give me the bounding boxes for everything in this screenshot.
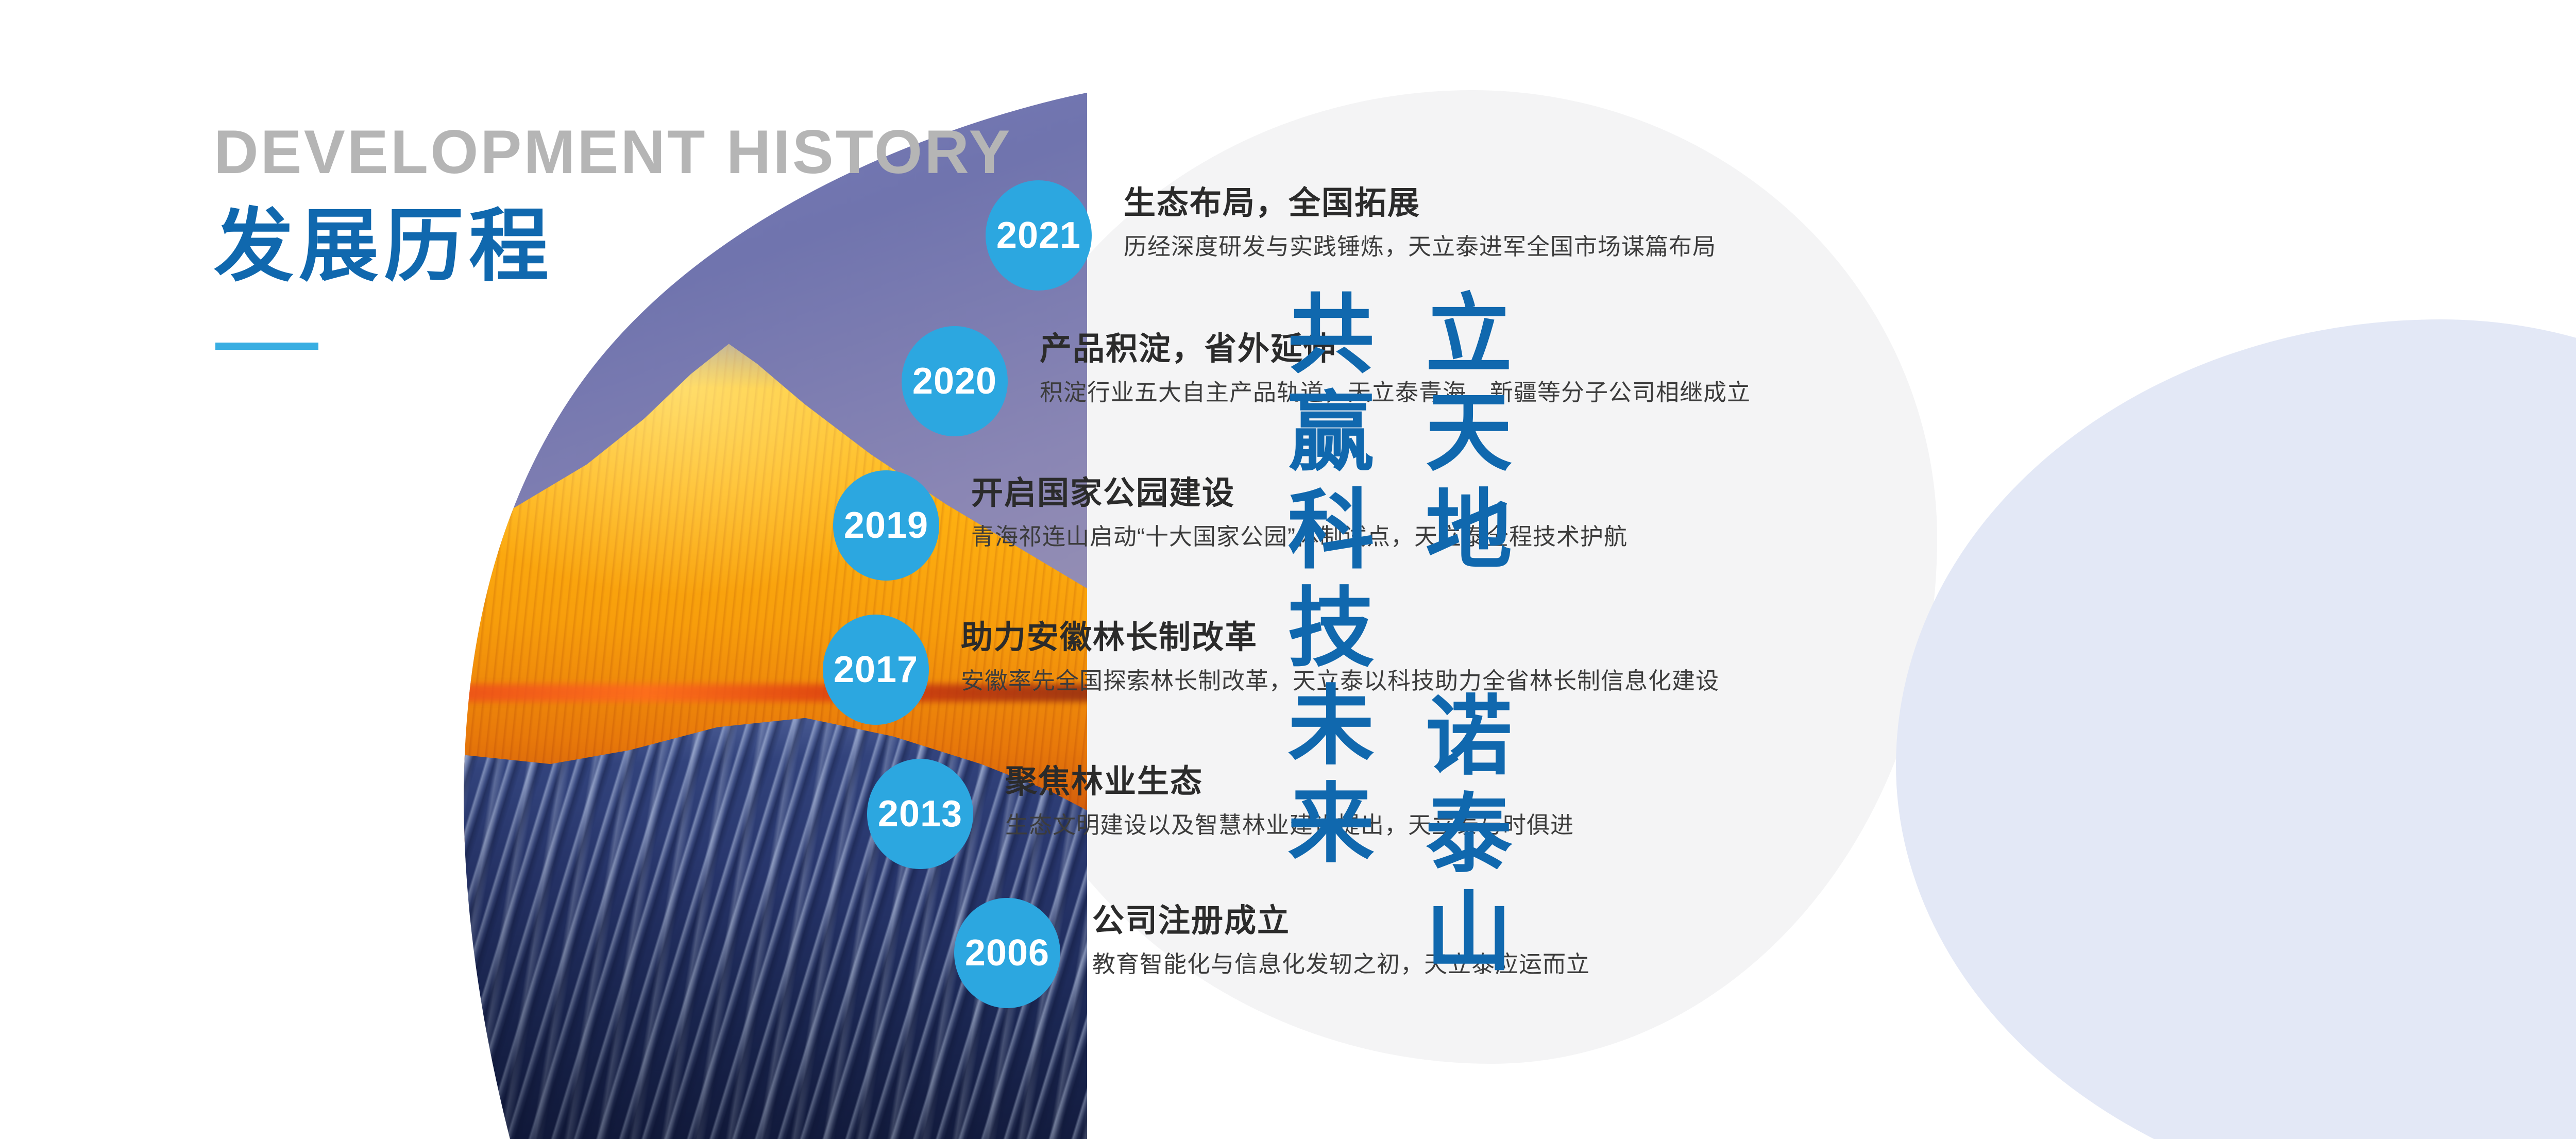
timeline-year-badge[interactable]: 2021 <box>986 180 1092 291</box>
timeline-year-badge[interactable]: 2019 <box>833 470 939 581</box>
timeline-year-badge[interactable]: 2017 <box>823 615 929 725</box>
timeline-item-text: 生态布局，全国拓展 历经深度研发与实践锤炼，天立泰进军全国市场谋篇布局 <box>1124 188 1716 258</box>
slogan-column-right: 立天地 诺泰山 <box>1417 288 1505 984</box>
slogan-block: 共赢科技未来 立天地 诺泰山 <box>1279 288 2388 984</box>
timeline-year-badge[interactable]: 2020 <box>902 326 1008 436</box>
timeline-year-badge[interactable]: 2013 <box>867 759 973 869</box>
slide-canvas: DEVELOPMENT HISTORY 发展历程 2021 生态布局，全国拓展 … <box>0 0 2576 1139</box>
timeline-item-title: 生态布局，全国拓展 <box>1124 188 1716 219</box>
timeline-item-desc: 历经深度研发与实践锤炼，天立泰进军全国市场谋篇布局 <box>1124 235 1716 258</box>
timeline-year-badge[interactable]: 2006 <box>954 898 1060 1008</box>
slogan-column-left: 共赢科技未来 <box>1279 288 1367 984</box>
